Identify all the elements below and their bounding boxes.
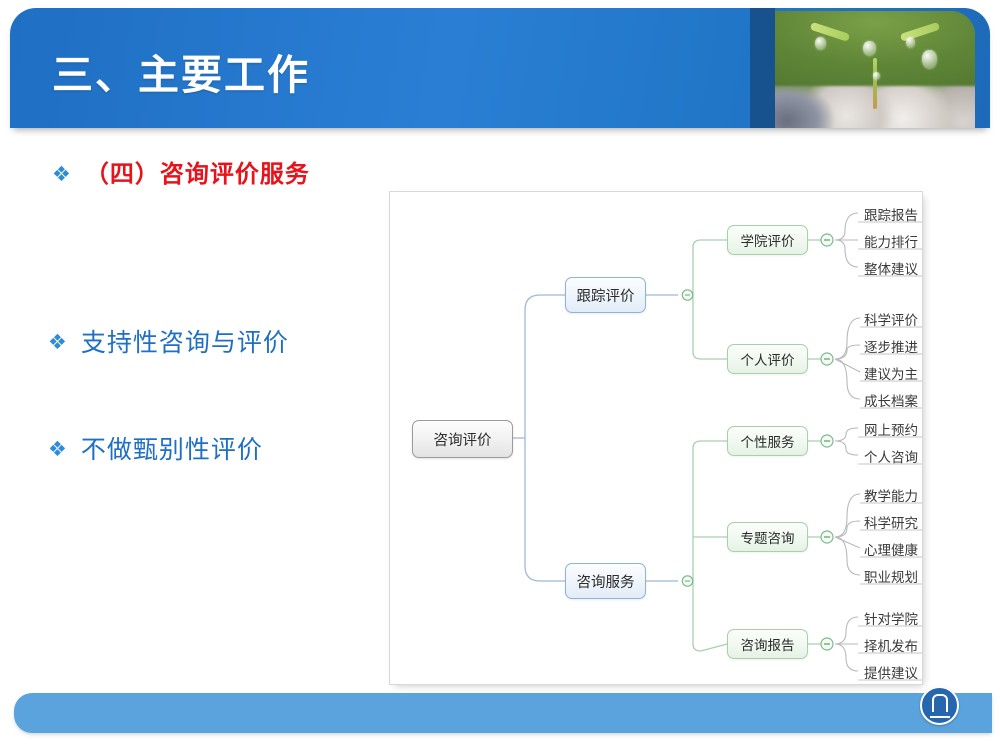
mindmap-leaf[interactable]: 成长档案 — [860, 390, 922, 410]
slide: 三、主要工作 ❖ （四）咨询评价服务 ❖ 支持性咨询与评价 ❖ 不做甄别性评价 — [0, 0, 1000, 750]
mindmap-sub-node-xueyuan[interactable]: 学院评价 — [727, 225, 808, 255]
slide-footer — [14, 693, 992, 733]
mindmap-leaf[interactable]: 个人咨询 — [860, 446, 922, 466]
diamond-bullet-icon: ❖ — [48, 328, 67, 353]
mindmap-branch-node-2[interactable]: 咨询服务 — [565, 563, 646, 599]
dew-drop-icon — [873, 72, 880, 80]
mindmap-sub-node-geren[interactable]: 个人评价 — [727, 344, 808, 374]
mindmap-leaf[interactable]: 能力排行 — [860, 231, 922, 251]
mindmap-leaf[interactable]: 逐步推进 — [860, 336, 922, 356]
slide-header: 三、主要工作 — [10, 8, 990, 128]
mindmap-leaf[interactable]: 跟踪报告 — [860, 204, 922, 224]
mindmap-leaf[interactable]: 建议为主 — [860, 363, 922, 383]
mindmap-leaf[interactable]: 教学能力 — [860, 485, 922, 505]
diamond-bullet-icon: ❖ — [48, 435, 67, 460]
bullet-item-3: ❖ 不做甄别性评价 — [48, 435, 263, 466]
mindmap-leaf[interactable]: 提供建议 — [860, 662, 922, 682]
mindmap-leaf[interactable]: 心理健康 — [860, 539, 922, 559]
mindmap-leaf[interactable]: 科学评价 — [860, 309, 922, 329]
mindmap-leaf[interactable]: 择机发布 — [860, 635, 922, 655]
mindmap-sub-node-baogao[interactable]: 咨询报告 — [727, 629, 808, 659]
mindmap-panel: 咨询评价 跟踪评价 咨询服务 学院评价 个人评价 个性服务 专题咨询 咨询报告 … — [390, 192, 922, 684]
mindmap-branch-node-1[interactable]: 跟踪评价 — [565, 277, 646, 313]
bullet-item-1: ❖ （四）咨询评价服务 — [52, 160, 310, 190]
mindmap-leaf[interactable]: 整体建议 — [860, 258, 922, 278]
university-emblem-icon — [920, 686, 959, 725]
header-accent-strip — [750, 8, 775, 128]
mindmap-leaf[interactable]: 针对学院 — [860, 608, 922, 628]
header-photo — [775, 11, 975, 128]
dew-drop-icon — [906, 37, 915, 48]
bullet-label-3: 不做甄别性评价 — [81, 435, 263, 466]
dew-drop-icon — [815, 37, 826, 50]
mindmap-leaf[interactable]: 网上预约 — [860, 419, 922, 439]
diamond-bullet-icon: ❖ — [52, 160, 71, 185]
mindmap-sub-node-zhuanti[interactable]: 专题咨询 — [727, 522, 808, 552]
bullet-label-1: （四）咨询评价服务 — [85, 160, 310, 190]
page-title: 三、主要工作 — [52, 41, 310, 101]
mindmap-leaf[interactable]: 科学研究 — [860, 512, 922, 532]
mindmap-sub-node-gexing[interactable]: 个性服务 — [727, 426, 808, 456]
bullet-item-2: ❖ 支持性咨询与评价 — [48, 328, 289, 359]
mindmap-leaf[interactable]: 职业规划 — [860, 566, 922, 586]
mindmap-root-node[interactable]: 咨询评价 — [412, 420, 513, 458]
sprout-stem-icon — [873, 58, 877, 109]
bullet-label-2: 支持性咨询与评价 — [81, 328, 289, 359]
dew-drop-icon — [922, 50, 937, 69]
